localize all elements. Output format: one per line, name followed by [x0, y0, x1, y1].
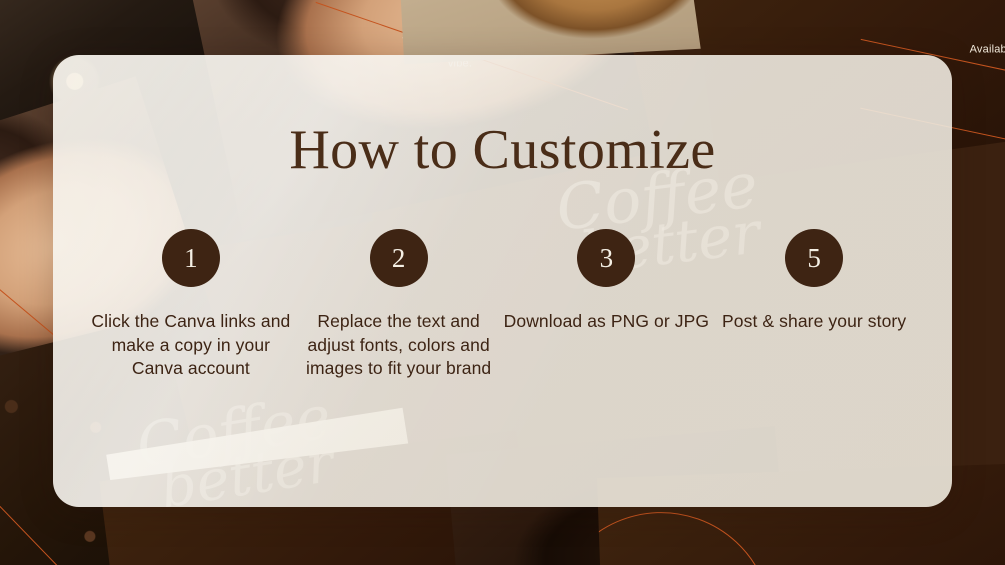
steps-list: 1 Click the Canva links and make a copy …: [87, 229, 918, 381]
step-number-badge-4: 5: [785, 229, 843, 287]
how-to-customize-panel: How to Customize 1 Click the Canva links…: [53, 55, 952, 507]
step-item-2: 2 Replace the text and adjust fonts, col…: [295, 229, 503, 381]
step-description-4: Post & share your story: [722, 310, 906, 334]
step-item-1: 1 Click the Canva links and make a copy …: [87, 229, 295, 381]
panel-content: How to Customize 1 Click the Canva links…: [53, 55, 952, 507]
step-number-badge-3: 3: [577, 229, 635, 287]
page-title: How to Customize: [53, 118, 952, 182]
step-number-badge-1: 1: [162, 229, 220, 287]
collage-caption-twenty: 20: [924, 0, 937, 3]
step-item-3: 3 Download as PNG or JPG: [503, 229, 711, 334]
step-description-3: Download as PNG or JPG: [504, 310, 709, 334]
collage-curve-bottom-right: [597, 508, 776, 565]
step-description-2: Replace the text and adjust fonts, color…: [295, 310, 503, 381]
slide-canvas: with a friend. vibe. 20 Availab S Coffee…: [0, 0, 1005, 565]
step-item-4: 5 Post & share your story: [710, 229, 918, 334]
step-description-1: Click the Canva links and make a copy in…: [87, 310, 295, 381]
step-number-badge-2: 2: [370, 229, 428, 287]
collage-caption-available: Availab: [970, 43, 1005, 55]
